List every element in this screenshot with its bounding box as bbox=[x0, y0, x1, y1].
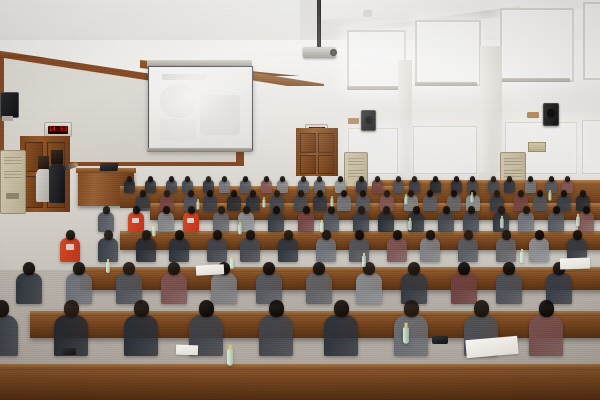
audience-torso bbox=[533, 195, 547, 211]
audience-head bbox=[393, 230, 402, 240]
laptop-on-lectern bbox=[99, 163, 118, 171]
audience-head bbox=[218, 206, 225, 214]
audience-head bbox=[412, 176, 417, 182]
audience-head bbox=[264, 176, 269, 182]
clerestory-window bbox=[500, 8, 574, 82]
audience-head bbox=[250, 190, 256, 197]
speaker-bracket bbox=[348, 118, 359, 124]
audience-head bbox=[188, 190, 194, 197]
audience-head bbox=[474, 300, 489, 317]
audience-torso bbox=[578, 212, 594, 232]
audience-head bbox=[243, 206, 250, 214]
audience-head bbox=[168, 262, 180, 275]
audience-head bbox=[528, 176, 533, 182]
audience-member bbox=[458, 230, 478, 264]
audience-head bbox=[491, 176, 496, 182]
wall-pillar bbox=[398, 60, 412, 172]
audience-torso bbox=[387, 238, 407, 262]
audience-head bbox=[73, 262, 85, 275]
bench-desk bbox=[0, 366, 600, 400]
lower-window bbox=[413, 126, 477, 174]
water-bottle bbox=[408, 221, 412, 231]
presenter-head bbox=[51, 150, 63, 164]
audience-torso bbox=[207, 238, 227, 262]
audience-member bbox=[423, 190, 437, 213]
audience-torso bbox=[423, 195, 437, 211]
desk-edge bbox=[80, 267, 600, 272]
audience-head bbox=[213, 230, 222, 240]
audience-head bbox=[104, 230, 113, 240]
audience-head bbox=[427, 190, 433, 197]
audience-head bbox=[246, 230, 255, 240]
audience-head bbox=[317, 190, 323, 197]
audience-head bbox=[188, 206, 195, 214]
audience-head bbox=[206, 176, 211, 182]
audience-head bbox=[123, 262, 135, 275]
audience-head bbox=[537, 190, 543, 197]
audience-head bbox=[494, 190, 500, 197]
water-bottle bbox=[320, 223, 324, 233]
audience-head bbox=[507, 176, 512, 182]
audience-head bbox=[64, 300, 79, 317]
screen-glare bbox=[150, 68, 249, 147]
audience-head bbox=[328, 206, 335, 214]
water-bottle bbox=[106, 262, 110, 273]
audience-head bbox=[565, 176, 570, 182]
audience-head bbox=[355, 230, 364, 240]
volunteer-in-orange-vest bbox=[60, 230, 80, 264]
audience-torso bbox=[438, 212, 454, 232]
wall-speaker bbox=[361, 110, 376, 131]
water-bottle bbox=[331, 198, 334, 206]
audience-head bbox=[535, 230, 544, 240]
audience-head bbox=[503, 262, 515, 275]
desk-edge bbox=[30, 311, 600, 316]
audience-head bbox=[518, 190, 524, 197]
monitor-mount bbox=[2, 116, 13, 121]
audience-head bbox=[583, 206, 590, 214]
audience-head bbox=[338, 176, 343, 182]
door-front-right[interactable] bbox=[296, 128, 338, 176]
audience-member bbox=[169, 230, 189, 264]
audience-head bbox=[454, 176, 459, 182]
wall-pillar bbox=[480, 46, 502, 172]
audience-head bbox=[384, 190, 390, 197]
audience-torso bbox=[169, 238, 189, 262]
water-bottle bbox=[197, 201, 200, 209]
audience-head bbox=[451, 190, 457, 197]
audience-head bbox=[140, 190, 146, 197]
audience-member bbox=[16, 262, 42, 306]
water-bottle bbox=[405, 196, 408, 204]
led-wall-clock: 14:53 bbox=[44, 122, 72, 137]
audience-torso bbox=[463, 212, 479, 232]
audience-head bbox=[303, 206, 310, 214]
audience-head bbox=[274, 190, 280, 197]
water-bottle bbox=[520, 252, 524, 263]
handout-paper bbox=[560, 257, 590, 269]
audience-head bbox=[222, 176, 227, 182]
audience-head bbox=[163, 206, 170, 214]
audience-torso bbox=[496, 273, 522, 304]
audience-member bbox=[420, 230, 440, 264]
audience-member bbox=[278, 230, 298, 264]
audience-torso bbox=[394, 315, 428, 356]
audience-torso bbox=[136, 238, 156, 262]
audience-member bbox=[207, 230, 227, 264]
audience-head bbox=[523, 206, 530, 214]
audience-member bbox=[349, 230, 369, 264]
audience-torso bbox=[158, 212, 174, 232]
clerestory-window bbox=[583, 2, 600, 80]
audience-member bbox=[124, 176, 135, 195]
audience-head bbox=[433, 176, 438, 182]
audience-head bbox=[243, 176, 248, 182]
audience-head bbox=[175, 230, 184, 240]
audience-head bbox=[185, 176, 190, 182]
audience-torso bbox=[518, 212, 534, 232]
water-bottle bbox=[549, 192, 552, 200]
clerestory-window bbox=[415, 20, 481, 86]
water-bottle bbox=[403, 327, 409, 344]
audience-head bbox=[66, 230, 75, 240]
smartphone bbox=[432, 336, 448, 344]
audience-head bbox=[301, 176, 306, 182]
water-bottle bbox=[238, 225, 242, 235]
audience-head bbox=[127, 176, 132, 182]
audience-head bbox=[273, 206, 280, 214]
window-sill bbox=[500, 78, 570, 82]
water-bottle bbox=[362, 256, 366, 267]
audience-member bbox=[356, 262, 382, 306]
audience-head bbox=[396, 176, 401, 182]
audience-torso bbox=[378, 212, 394, 232]
ac-unit-left bbox=[0, 150, 26, 214]
water-bottle bbox=[500, 219, 504, 229]
speaker-bracket bbox=[527, 112, 539, 118]
water-bottle bbox=[227, 349, 233, 366]
water-bottle bbox=[152, 227, 156, 237]
audience-member bbox=[548, 206, 564, 234]
audience-head bbox=[561, 190, 567, 197]
audience-torso bbox=[324, 315, 358, 356]
audience-head bbox=[148, 176, 153, 182]
water-bottle bbox=[263, 199, 266, 207]
audience-head bbox=[573, 230, 582, 240]
audience-member bbox=[240, 230, 260, 264]
audience-head bbox=[470, 176, 475, 182]
audience-torso bbox=[420, 238, 440, 262]
wall-speaker bbox=[543, 103, 559, 126]
audience-torso bbox=[496, 238, 516, 262]
wall-notice-sign bbox=[528, 142, 546, 152]
audience-head bbox=[383, 206, 390, 214]
audience-head bbox=[169, 176, 174, 182]
audience-member bbox=[529, 230, 549, 264]
audience-head bbox=[23, 262, 35, 275]
water-bottle bbox=[576, 217, 580, 227]
audience-torso bbox=[529, 315, 563, 356]
audience-member bbox=[529, 300, 563, 358]
projector-lens-icon bbox=[330, 49, 337, 56]
audience-head bbox=[468, 206, 475, 214]
audience-member bbox=[161, 262, 187, 306]
audience-torso bbox=[353, 212, 369, 232]
lower-window bbox=[582, 120, 600, 174]
audience-head bbox=[375, 176, 380, 182]
smoke-detector-icon bbox=[363, 10, 372, 17]
audience-head bbox=[317, 176, 322, 182]
presenter-head bbox=[38, 156, 49, 169]
audience-head bbox=[360, 190, 366, 197]
audience-member bbox=[124, 300, 158, 358]
audience-head bbox=[549, 176, 554, 182]
audience-head bbox=[231, 190, 237, 197]
audience-head bbox=[443, 206, 450, 214]
audience-head bbox=[269, 300, 284, 317]
audience-torso bbox=[323, 212, 339, 232]
audience-head bbox=[133, 206, 140, 214]
audience-member bbox=[0, 300, 18, 358]
audience-head bbox=[207, 190, 213, 197]
audience-torso bbox=[349, 238, 369, 262]
audience-torso bbox=[548, 212, 564, 232]
projector-mount-pole bbox=[317, 0, 321, 47]
audience-head bbox=[313, 262, 325, 275]
audience-head bbox=[502, 230, 511, 240]
audience-torso bbox=[298, 212, 314, 232]
audience-head bbox=[103, 206, 110, 214]
audience-head bbox=[408, 190, 414, 197]
desk-edge bbox=[0, 364, 600, 370]
audience-member bbox=[438, 206, 454, 234]
audience-member bbox=[337, 190, 351, 213]
audience-member bbox=[324, 300, 358, 358]
audience-head bbox=[298, 190, 304, 197]
window-sill bbox=[347, 86, 402, 90]
wall-monitor bbox=[0, 92, 19, 118]
audience-torso bbox=[240, 238, 260, 262]
audience-member bbox=[394, 300, 428, 358]
audience-head bbox=[334, 300, 349, 317]
audience-torso bbox=[529, 238, 549, 262]
audience-torso bbox=[0, 315, 18, 356]
audience-torso bbox=[213, 212, 229, 232]
audience-member bbox=[496, 230, 516, 264]
handout-paper bbox=[465, 336, 518, 358]
audience-head bbox=[539, 300, 554, 317]
audience-torso bbox=[259, 315, 293, 356]
handout-paper bbox=[196, 264, 224, 275]
audience-head bbox=[358, 206, 365, 214]
audience-member bbox=[316, 230, 336, 264]
audience-torso bbox=[124, 315, 158, 356]
audience-head bbox=[142, 230, 151, 240]
audience-head bbox=[359, 176, 364, 182]
audience-head bbox=[580, 190, 586, 197]
audience-torso bbox=[458, 238, 478, 262]
audience-torso bbox=[60, 238, 80, 262]
audience-torso bbox=[98, 212, 114, 232]
audience-head bbox=[164, 190, 170, 197]
audience-head bbox=[408, 262, 420, 275]
audience-head bbox=[464, 230, 473, 240]
audience-head bbox=[280, 176, 285, 182]
audience-torso bbox=[316, 238, 336, 262]
audience-head bbox=[284, 230, 293, 240]
water-bottle bbox=[230, 258, 234, 269]
audience-member bbox=[387, 230, 407, 264]
audience-head bbox=[426, 230, 435, 240]
audience-member bbox=[496, 262, 522, 306]
audience-member bbox=[533, 190, 547, 213]
audience-member bbox=[259, 300, 293, 358]
audience-head bbox=[404, 300, 419, 317]
window-sill bbox=[415, 82, 477, 86]
audience-member bbox=[298, 206, 314, 234]
smartphone bbox=[62, 348, 76, 355]
projection-screen-weight-bar bbox=[147, 148, 252, 152]
water-bottle bbox=[471, 194, 474, 202]
audience-torso bbox=[356, 273, 382, 304]
audience-torso bbox=[337, 195, 351, 211]
audience-head bbox=[458, 262, 470, 275]
audience-head bbox=[134, 300, 149, 317]
audience-head bbox=[199, 300, 214, 317]
audience-head bbox=[341, 190, 347, 197]
audience-torso bbox=[278, 238, 298, 262]
audience-torso bbox=[161, 273, 187, 304]
audience-member bbox=[393, 176, 404, 195]
audience-head bbox=[263, 262, 275, 275]
audience-torso bbox=[268, 212, 284, 232]
audience-torso bbox=[16, 273, 42, 304]
audience-head bbox=[498, 206, 505, 214]
audience-head bbox=[553, 206, 560, 214]
lecture-hall-photo: 14:53 EXIT bbox=[0, 0, 600, 400]
clock-time-text: 14:53 bbox=[48, 126, 67, 133]
audience-head bbox=[413, 206, 420, 214]
handout-paper bbox=[176, 345, 198, 356]
